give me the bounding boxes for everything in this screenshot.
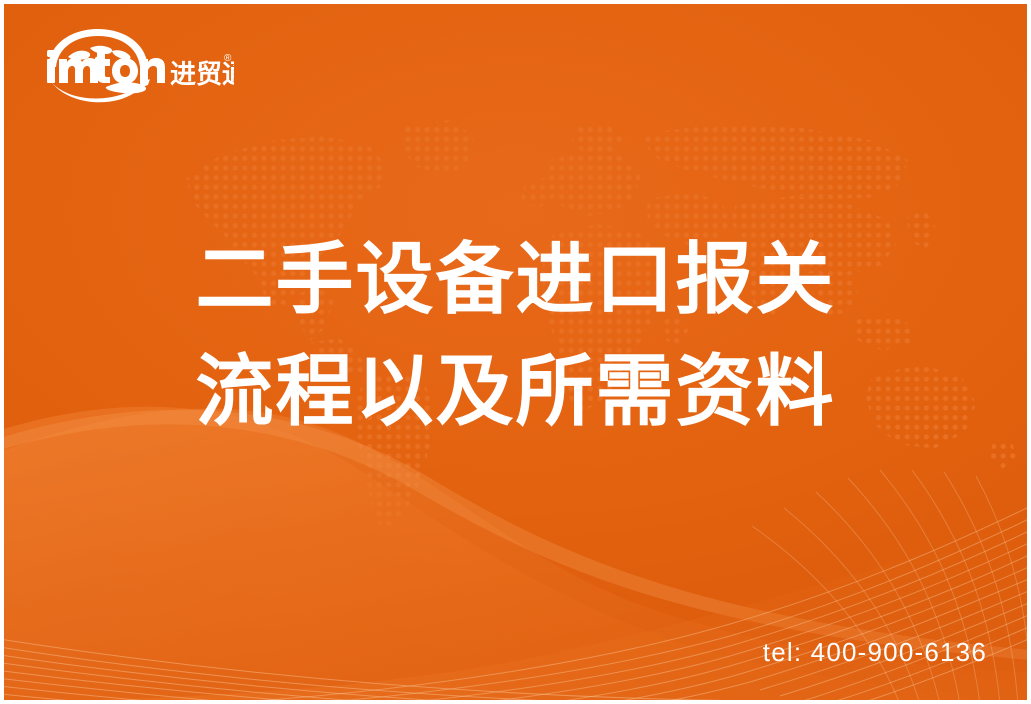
frame-border-top xyxy=(0,0,1031,4)
frame-border-left xyxy=(0,0,4,704)
promo-banner: 进贸通 ® 二手设备进口报关 流程以及所需资料 tel: 400-900-613… xyxy=(0,0,1031,704)
frame-border-bottom xyxy=(0,700,1031,704)
frame-border-right xyxy=(1027,0,1031,704)
logo-wordmark-cn: 进贸通 xyxy=(170,60,234,90)
brand-logo[interactable]: 进贸通 ® xyxy=(44,27,234,103)
contact-phone[interactable]: tel: 400-900-6136 xyxy=(763,637,987,668)
headline-block: 二手设备进口报关 流程以及所需资料 xyxy=(0,224,1031,448)
registered-mark-icon: ® xyxy=(224,53,232,64)
headline-line-2: 流程以及所需资料 xyxy=(0,336,1031,448)
headline-line-1: 二手设备进口报关 xyxy=(0,224,1031,336)
